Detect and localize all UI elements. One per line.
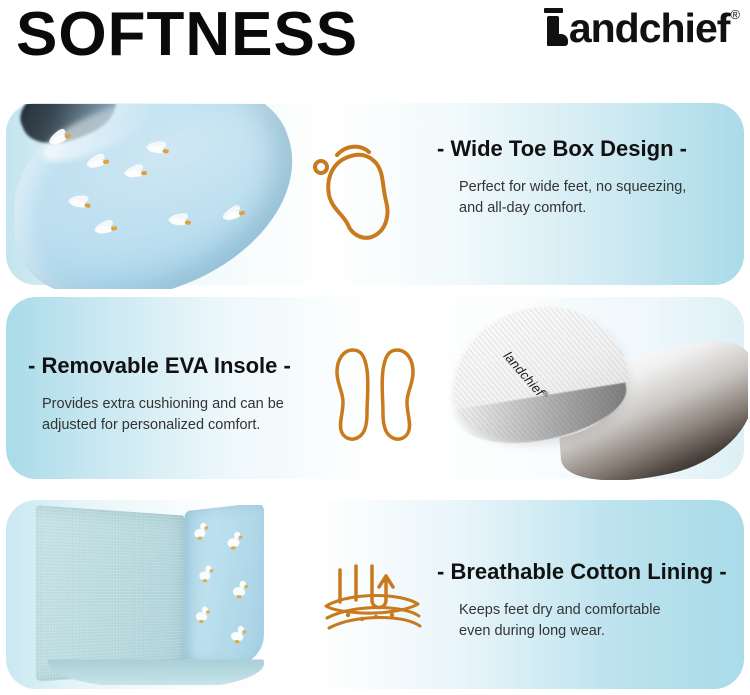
product-photo-boot-toe (14, 104, 296, 289)
duck-print-icon (231, 625, 246, 641)
brand-name: andchief (569, 6, 730, 50)
insole-pair-icon (333, 344, 419, 449)
seagull-print-icon (166, 213, 193, 228)
duck-print-icon (196, 606, 210, 621)
product-photo-eva-insole: landchief® (450, 300, 748, 480)
feature-body: Provides extra cushioning and can be adj… (42, 394, 291, 436)
registered-trademark-icon: ® (730, 8, 740, 21)
feature-title: - Breathable Cotton Lining - (437, 558, 727, 586)
duck-print-icon (199, 565, 213, 580)
seagull-print-icon (121, 165, 148, 181)
feature-text-wide-toe-box: - Wide Toe Box Design - Perfect for wide… (437, 135, 687, 219)
feature-body: Perfect for wide feet, no squeezing, and… (459, 177, 687, 219)
feature-text-breathable-cotton-lining: - Breathable Cotton Lining - Keeps feet … (437, 558, 727, 642)
feature-title: - Wide Toe Box Design - (437, 135, 687, 163)
feature-body: Keeps feet dry and comfortable even duri… (459, 600, 727, 642)
page-header: SOFTNESS andchief ® (0, 0, 750, 92)
feature-title: - Removable EVA Insole - (28, 352, 291, 380)
duck-print-icon (233, 581, 248, 597)
duck-print-icon (227, 531, 242, 547)
brand-logo: andchief ® (542, 6, 740, 54)
product-photo-cotton-lining (30, 505, 290, 685)
footprint-icon (312, 133, 416, 250)
breathable-fabric-icon (322, 558, 422, 663)
feature-text-removable-eva-insole: - Removable EVA Insole - Provides extra … (28, 352, 291, 436)
duck-print-icon (194, 522, 208, 538)
boot-logo-icon (542, 6, 568, 46)
page-title: SOFTNESS (16, 2, 358, 68)
